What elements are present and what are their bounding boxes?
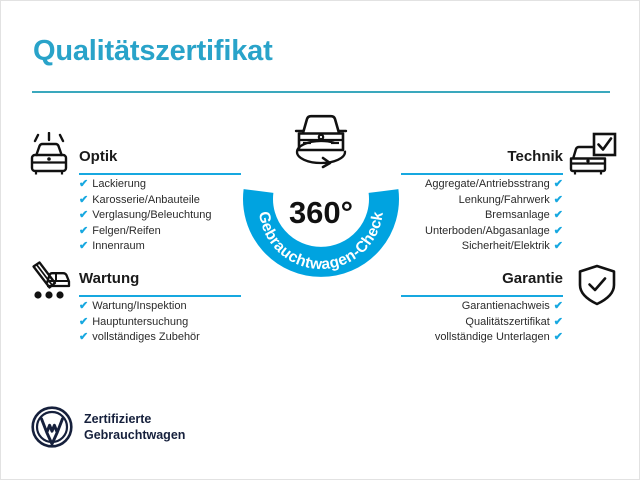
list-item: ✔Lackierung (79, 177, 241, 193)
check-icon: ✔ (79, 225, 88, 237)
list-item-label: Verglasung/Beleuchtung (92, 209, 211, 221)
list-item-label: Lenkung/Fahrwerk (459, 194, 550, 206)
section-garantie-title: Garantie (401, 269, 563, 289)
section-optik-underline (79, 173, 241, 175)
list-item-label: Innenraum (92, 240, 145, 252)
check-icon: ✔ (79, 316, 88, 328)
section-technik-title: Technik (401, 147, 563, 167)
list-item: Unterboden/Abgasanlage✔ (401, 224, 563, 240)
check-icon: ✔ (554, 300, 563, 312)
section-wartung: Wartung ✔Wartung/Inspektion ✔Hauptunters… (79, 269, 241, 346)
check-icon: ✔ (79, 209, 88, 221)
check-icon: ✔ (554, 316, 563, 328)
section-garantie-underline (401, 295, 563, 297)
list-item: ✔Innenraum (79, 239, 241, 255)
list-item-label: Felgen/Reifen (92, 225, 161, 237)
list-item: ✔Hauptuntersuchung (79, 315, 241, 331)
section-optik-header: Optik (79, 147, 241, 177)
list-item-label: vollständige Unterlagen (435, 331, 550, 343)
badge-360-gebrauchtwagen-check: Gebrauchtwagen-Check 360° (233, 119, 409, 295)
list-item: ✔Karosserie/Anbauteile (79, 193, 241, 209)
section-optik-list: ✔Lackierung ✔Karosserie/Anbauteile ✔Verg… (79, 177, 241, 255)
check-icon: ✔ (554, 209, 563, 221)
list-item: Aggregate/Antriebsstrang✔ (401, 177, 563, 193)
list-item: Garantienachweis✔ (401, 299, 563, 315)
check-icon: ✔ (554, 331, 563, 343)
car-rotate-icon (283, 107, 359, 177)
list-item: ✔Felgen/Reifen (79, 224, 241, 240)
list-item: Lenkung/Fahrwerk✔ (401, 193, 563, 209)
section-technik-underline (401, 173, 563, 175)
section-technik-header: Technik (401, 147, 563, 177)
car-checkbox-icon (569, 132, 617, 176)
list-item-label: Hauptuntersuchung (92, 316, 188, 328)
list-item: ✔Wartung/Inspektion (79, 299, 241, 315)
shield-check-icon (573, 263, 621, 307)
certificate-page: Qualitätszertifikat Optik ✔Lackierung ✔K… (0, 0, 640, 480)
check-icon: ✔ (79, 240, 88, 252)
check-icon: ✔ (79, 178, 88, 190)
section-optik: Optik ✔Lackierung ✔Karosserie/Anbauteile… (79, 147, 241, 255)
list-item-label: Qualitätszertifikat (465, 316, 549, 328)
section-wartung-list: ✔Wartung/Inspektion ✔Hauptuntersuchung ✔… (79, 299, 241, 346)
car-shine-icon (25, 132, 73, 176)
section-optik-title: Optik (79, 147, 241, 167)
vw-logo-icon (31, 406, 73, 448)
section-wartung-header: Wartung (79, 269, 241, 299)
section-technik-list: Aggregate/Antriebsstrang✔ Lenkung/Fahrwe… (401, 177, 563, 255)
pen-car-service-icon (25, 260, 73, 304)
vw-footer: Zertifizierte Gebrauchtwagen (31, 406, 185, 448)
check-icon: ✔ (554, 225, 563, 237)
check-icon: ✔ (554, 240, 563, 252)
list-item: ✔vollständiges Zubehör (79, 330, 241, 346)
list-item-label: vollständiges Zubehör (92, 331, 200, 343)
section-technik: Technik Aggregate/Antriebsstrang✔ Lenkun… (401, 147, 563, 255)
list-item-label: Bremsanlage (485, 209, 550, 221)
list-item-label: Karosserie/Anbauteile (92, 194, 200, 206)
vw-footer-text: Zertifizierte Gebrauchtwagen (84, 411, 185, 443)
list-item-label: Lackierung (92, 178, 146, 190)
list-item-label: Garantienachweis (462, 300, 550, 312)
list-item: Sicherheit/Elektrik✔ (401, 239, 563, 255)
section-garantie: Garantie Garantienachweis✔ Qualitätszert… (401, 269, 563, 346)
section-garantie-header: Garantie (401, 269, 563, 299)
page-title: Qualitätszertifikat (33, 35, 273, 68)
check-icon: ✔ (79, 331, 88, 343)
list-item-label: Sicherheit/Elektrik (462, 240, 550, 252)
list-item-label: Unterboden/Abgasanlage (425, 225, 550, 237)
list-item-label: Aggregate/Antriebsstrang (425, 178, 550, 190)
list-item-label: Wartung/Inspektion (92, 300, 186, 312)
check-icon: ✔ (79, 300, 88, 312)
list-item: ✔Verglasung/Beleuchtung (79, 208, 241, 224)
section-wartung-underline (79, 295, 241, 297)
section-wartung-title: Wartung (79, 269, 241, 289)
list-item: vollständige Unterlagen✔ (401, 330, 563, 346)
check-icon: ✔ (554, 178, 563, 190)
check-icon: ✔ (554, 194, 563, 206)
title-divider (32, 91, 610, 93)
section-garantie-list: Garantienachweis✔ Qualitätszertifikat✔ v… (401, 299, 563, 346)
list-item: Qualitätszertifikat✔ (401, 315, 563, 331)
list-item: Bremsanlage✔ (401, 208, 563, 224)
check-icon: ✔ (79, 194, 88, 206)
